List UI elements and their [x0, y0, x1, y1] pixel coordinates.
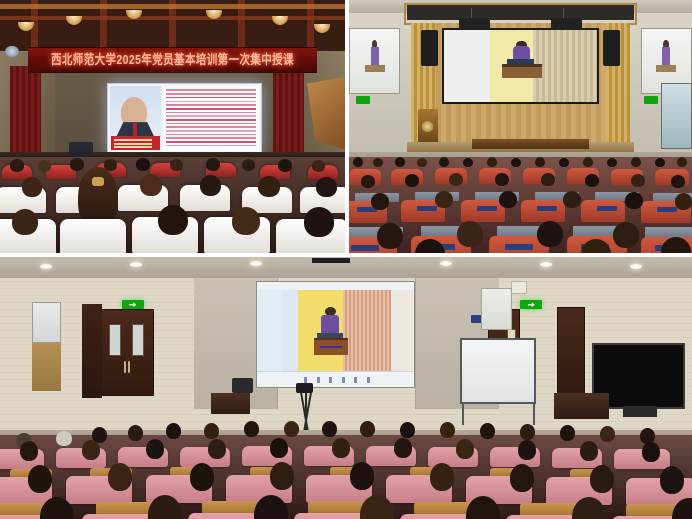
display-stand: [623, 406, 658, 416]
entry-door-left: [100, 309, 153, 395]
attendee-head: [590, 465, 614, 493]
side-screen-podium: [656, 65, 676, 73]
classroom-seating: [0, 435, 692, 519]
slide-caption-bar: [111, 136, 160, 150]
photo-panel-classroom: [0, 257, 692, 519]
side-screen-speaker-body: [371, 47, 379, 66]
attendee-head: [457, 221, 483, 247]
attendee-head: [56, 431, 72, 446]
led-banner-text: 西北师范大学2025年党员基本培训第一次集中授课: [51, 50, 294, 69]
camera-head: [296, 383, 313, 393]
seat-number-plate: [597, 206, 617, 211]
seat-number-plate: [417, 206, 437, 211]
side-cabinet: [554, 393, 609, 419]
attendee-head: [108, 463, 132, 491]
stage-bench: [472, 139, 589, 149]
screen-video-area: [257, 290, 414, 372]
ceiling-projector-right: [551, 18, 582, 31]
ceiling-downlight: [440, 261, 452, 266]
podium-emblem-icon: [422, 121, 434, 131]
side-screen-speaker-body: [662, 47, 670, 66]
stage-projection-screen: [442, 28, 600, 104]
exit-sign-left-icon: [356, 96, 370, 104]
wall-notice-frame: [32, 302, 61, 344]
side-door-right: [661, 83, 692, 149]
attendee-head: [613, 222, 639, 248]
wall-sensor: [511, 281, 528, 294]
slide-text-block: [163, 86, 260, 151]
exit-sign-right-icon: [520, 300, 542, 309]
loudspeaker-right: [603, 30, 620, 65]
control-desk: [211, 393, 250, 414]
screen-podium: [314, 338, 349, 355]
photo-panel-auditorium: [349, 0, 692, 253]
ceiling-downlight: [130, 262, 142, 267]
screen-curtain-stripes: [343, 290, 390, 372]
screen-curtain-stripes: [533, 30, 598, 102]
slide-speaker-tie: [133, 123, 138, 136]
seat-number-plate: [657, 207, 677, 212]
ceiling-vent: [312, 258, 350, 263]
ceiling-beam: [0, 16, 345, 20]
ceiling-downlight: [540, 262, 552, 267]
ceiling-downlight: [250, 261, 262, 266]
seat-number-plate: [505, 244, 533, 250]
photo-panel-hall-banner: 西北师范大学2025年党员基本培训第一次集中授课: [0, 0, 345, 253]
control-monitor: [232, 378, 253, 394]
screen-podium: [502, 64, 542, 79]
ceiling-projector-left: [459, 18, 490, 31]
side-screen-left: [349, 28, 400, 94]
photo-collage: 西北师范大学2025年党员基本培训第一次集中授课: [0, 0, 692, 519]
attendee-head: [537, 221, 563, 247]
seat-number-plate: [477, 206, 497, 211]
audience-area: [0, 157, 345, 253]
classroom-scene: [0, 257, 692, 519]
led-banner: 西北师范大学2025年党员基本培训第一次集中授课: [28, 47, 318, 73]
presentation-screen: [107, 83, 262, 154]
seat-number-plate: [351, 245, 379, 251]
wall-wood-panel: [32, 343, 61, 390]
classroom-projection-screen: [256, 281, 415, 388]
side-screen-podium: [365, 65, 385, 73]
stage-header-band: [407, 5, 633, 20]
seat-number-plate: [537, 206, 557, 211]
exit-sign-left-icon: [122, 300, 144, 309]
auditorium-scene: [349, 0, 692, 253]
door-frame-left: [82, 304, 103, 398]
attendee-head: [28, 465, 52, 493]
attendee-head: [510, 464, 534, 492]
slide-photo: [110, 86, 161, 151]
attendee-head: [430, 463, 454, 491]
wall-poster-frame: [481, 288, 512, 330]
ceiling-beam: [0, 4, 345, 9]
attendee-head: [190, 463, 214, 491]
attendee-head: [270, 462, 294, 490]
screen-taskbar: [257, 371, 414, 387]
ceiling-downlight: [630, 264, 642, 269]
attendee-head: [377, 223, 403, 249]
whiteboard: [460, 338, 536, 404]
ceiling-downlight: [40, 264, 52, 269]
hair-clip: [92, 177, 104, 186]
lectern-emblem-icon: [5, 46, 19, 57]
exit-sign-right-icon: [644, 96, 658, 104]
auditorium-seating: [349, 157, 692, 253]
attendee-head: [660, 466, 684, 494]
foreground-attendee-head: [78, 167, 118, 227]
side-door: [557, 307, 585, 396]
loudspeaker-left: [421, 30, 438, 65]
hall-scene: 西北师范大学2025年党员基本培训第一次集中授课: [0, 0, 345, 253]
attendee-head: [350, 462, 374, 490]
